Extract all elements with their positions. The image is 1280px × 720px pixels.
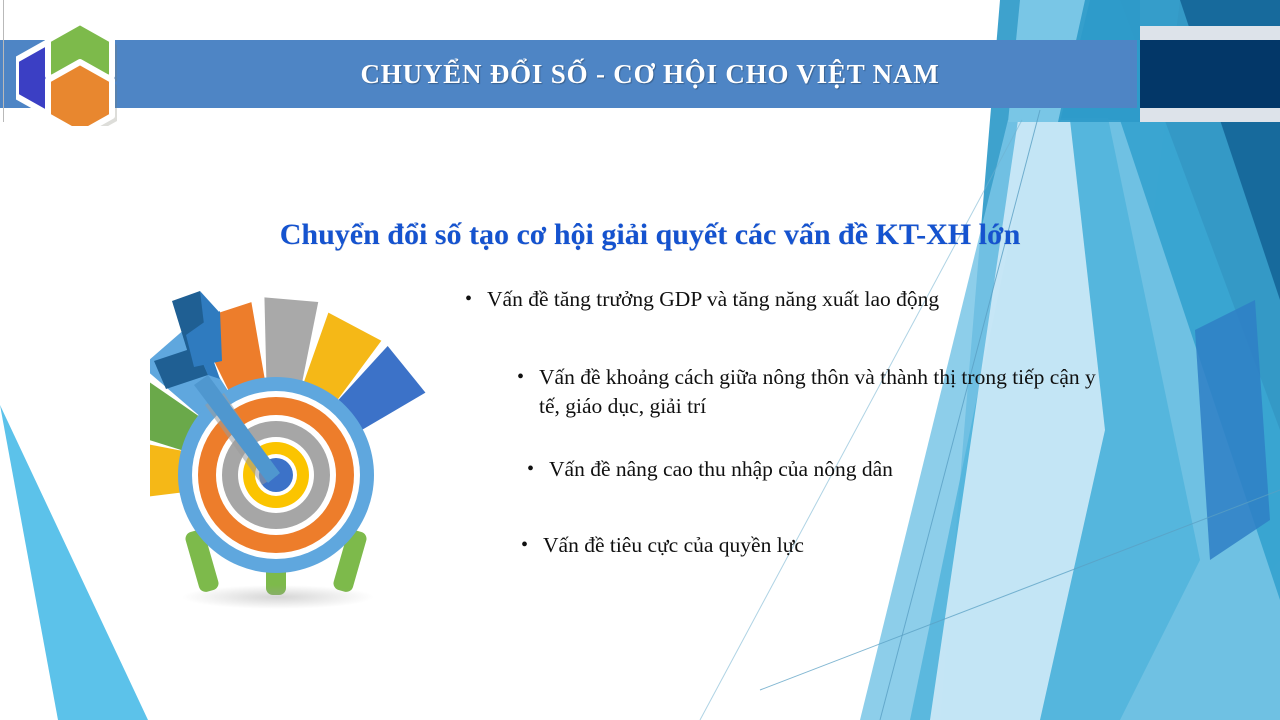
list-item-label: Vấn đề tăng trưởng GDP và tăng năng xuất… bbox=[487, 285, 1105, 314]
bullet-marker-icon: • bbox=[527, 455, 549, 484]
bullet-marker-icon: • bbox=[465, 285, 487, 314]
page-title: CHUYỂN ĐỔI SỐ - CƠ HỘI CHO VIỆT NAM bbox=[170, 40, 1130, 108]
hex-orange-icon bbox=[48, 62, 112, 126]
bg-shape-left-wedge bbox=[0, 405, 148, 720]
ground-shadow bbox=[182, 585, 374, 609]
target-with-arrow-illustration bbox=[150, 275, 510, 615]
list-item-label: Vấn đề nâng cao thu nhập của nông dân bbox=[549, 455, 1087, 484]
header-navy-strip-top bbox=[1140, 26, 1280, 40]
list-item: • Vấn đề tiêu cực của quyền lực bbox=[521, 531, 1041, 560]
list-item-label: Vấn đề khoảng cách giữa nông thôn và thà… bbox=[539, 363, 1117, 421]
left-edge-rule bbox=[3, 0, 4, 122]
section-heading: Chuyển đổi số tạo cơ hội giải quyết các … bbox=[190, 216, 1110, 254]
slide-canvas: CHUYỂN ĐỔI SỐ - CƠ HỘI CHO VIỆT NAM Chuy… bbox=[0, 0, 1280, 720]
list-item-label: Vấn đề tiêu cực của quyền lực bbox=[543, 531, 1041, 560]
hexagon-logo bbox=[16, 16, 166, 126]
list-item: • Vấn đề nâng cao thu nhập của nông dân bbox=[527, 455, 1087, 484]
list-item: • Vấn đề khoảng cách giữa nông thôn và t… bbox=[517, 363, 1117, 421]
header-navy-strip-bottom bbox=[1140, 108, 1280, 122]
bg-shape-right-blue-sliver bbox=[1195, 300, 1270, 560]
bullet-marker-icon: • bbox=[517, 363, 539, 392]
list-item: • Vấn đề tăng trưởng GDP và tăng năng xu… bbox=[465, 285, 1105, 314]
bullet-marker-icon: • bbox=[521, 531, 543, 560]
bg-hairline-horizontal bbox=[760, 490, 1280, 690]
